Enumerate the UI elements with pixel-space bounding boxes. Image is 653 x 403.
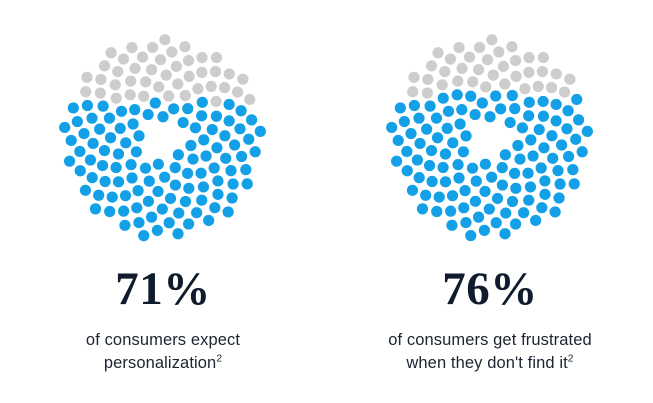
dot-filled — [440, 176, 451, 187]
dot-empty — [224, 68, 235, 79]
dot-filled — [438, 93, 449, 104]
dot-filled — [172, 228, 183, 239]
dot-filled — [87, 138, 98, 149]
dot-filled — [518, 207, 529, 218]
dot-empty — [546, 82, 557, 93]
dot-filled — [227, 178, 238, 189]
dot-filled — [567, 164, 578, 175]
dot-filled — [159, 172, 170, 183]
dot-empty — [147, 42, 158, 53]
infographic-root: 71% of consumers expect personalization2… — [0, 0, 653, 403]
dot-filled — [120, 190, 131, 201]
dot-filled — [168, 103, 179, 114]
dot-filled — [129, 104, 140, 115]
dot-empty — [456, 63, 467, 74]
dot-filled — [183, 218, 194, 229]
dot-filled — [479, 186, 490, 197]
dot-filled — [173, 149, 184, 160]
dot-empty — [511, 71, 522, 82]
dot-empty — [464, 51, 475, 62]
dot-filled — [510, 183, 521, 194]
dot-empty — [422, 87, 433, 98]
dot-empty — [140, 76, 151, 87]
dot-filled — [211, 111, 222, 122]
dot-empty — [80, 86, 91, 97]
dot-filled — [514, 154, 525, 165]
dot-filled — [523, 110, 534, 121]
dot-empty — [480, 81, 491, 92]
dot-filled — [479, 225, 490, 236]
dot-filled — [447, 137, 458, 148]
dot-filled — [234, 123, 245, 134]
dot-empty — [519, 83, 530, 94]
dot-filled — [420, 190, 431, 201]
dot-filled — [432, 132, 443, 143]
dot-filled — [538, 142, 549, 153]
dot-filled — [525, 134, 536, 145]
dot-empty — [537, 66, 548, 77]
dot-filled — [395, 102, 406, 113]
footnote-marker-left: 2 — [216, 354, 222, 365]
dot-filled — [183, 183, 194, 194]
dot-filled — [185, 140, 196, 151]
dot-filled — [460, 130, 471, 141]
dot-filled — [224, 115, 235, 126]
dot-empty — [171, 61, 182, 72]
dot-empty — [437, 79, 448, 90]
dot-filled — [59, 122, 70, 133]
stat-panel-left: 71% of consumers expect personalization2 — [0, 0, 326, 403]
dot-filled — [414, 138, 425, 149]
dot-filled — [242, 178, 253, 189]
dot-filled — [458, 146, 469, 157]
dot-empty — [183, 55, 194, 66]
dot-empty — [244, 94, 255, 105]
dot-filled — [554, 178, 565, 189]
percentage-value-right: 76% — [442, 266, 538, 313]
dot-empty — [206, 81, 217, 92]
dot-filled — [509, 168, 520, 179]
dot-empty — [499, 78, 510, 89]
dot-filled — [536, 162, 547, 173]
dot-filled — [431, 206, 442, 217]
dot-filled — [491, 217, 502, 228]
dot-filled — [178, 117, 189, 128]
dot-filled — [132, 185, 143, 196]
dot-empty — [81, 72, 92, 83]
dot-empty — [184, 71, 195, 82]
dot-filled — [209, 162, 220, 173]
dot-filled — [477, 97, 488, 108]
dot-filled — [120, 137, 131, 148]
dot-filled — [452, 159, 463, 170]
dot-filled — [113, 176, 124, 187]
dot-empty — [474, 42, 485, 53]
dot-filled — [453, 172, 464, 183]
dot-filled — [469, 109, 480, 120]
caption-left-line2: personalization — [104, 354, 217, 372]
dot-filled — [399, 116, 410, 127]
dot-filled — [152, 186, 163, 197]
dot-filled — [571, 94, 582, 105]
dot-filled — [490, 90, 501, 101]
dot-empty — [110, 79, 121, 90]
dot-filled — [517, 122, 528, 133]
dot-filled — [86, 113, 97, 124]
dot-filled — [113, 148, 124, 159]
dot-filled — [484, 111, 495, 122]
dot-empty — [179, 41, 190, 52]
dot-filled — [454, 118, 465, 129]
dot-filled — [173, 207, 184, 218]
dot-filled — [164, 217, 175, 228]
dot-empty — [180, 90, 191, 101]
dot-filled — [401, 146, 412, 157]
dot-filled — [497, 179, 508, 190]
dot-filled — [434, 191, 445, 202]
dot-filled — [539, 175, 550, 186]
dot-filled — [486, 172, 497, 183]
dot-filled — [534, 124, 545, 135]
dot-empty — [564, 74, 575, 85]
dot-filled — [190, 122, 201, 133]
dot-filled — [78, 128, 89, 139]
dot-filled — [445, 206, 456, 217]
dot-filled — [405, 128, 416, 139]
dot-empty — [432, 47, 443, 58]
dot-filled — [255, 126, 266, 137]
dot-filled — [536, 202, 547, 213]
dot-filled — [118, 206, 129, 217]
dot-filled — [153, 159, 164, 170]
dot-filled — [427, 176, 438, 187]
dot-filled — [104, 113, 115, 124]
dot-filled — [412, 154, 423, 165]
dot-empty — [407, 86, 418, 97]
dot-filled — [133, 130, 144, 141]
dot-filled — [198, 134, 209, 145]
dot-filled — [546, 130, 557, 141]
dot-filled — [424, 160, 435, 171]
dot-empty — [452, 75, 463, 86]
dot-filled — [99, 145, 110, 156]
dot-empty — [146, 64, 157, 75]
dot-filled — [530, 215, 541, 226]
dot-filled — [144, 176, 155, 187]
dot-empty — [196, 67, 207, 78]
dot-filled — [220, 153, 231, 164]
dot-empty — [538, 52, 549, 63]
dot-empty — [95, 87, 106, 98]
dot-filled — [64, 156, 75, 167]
dot-filled — [243, 134, 254, 145]
dot-filled — [223, 206, 234, 217]
dot-filled — [207, 124, 218, 135]
dot-empty — [426, 60, 437, 71]
dot-empty — [493, 46, 504, 57]
dot-filled — [446, 220, 457, 231]
dot-empty — [237, 74, 248, 85]
dot-empty — [219, 82, 230, 93]
dot-filled — [182, 168, 193, 179]
dot-empty — [211, 52, 222, 63]
dot-empty — [153, 81, 164, 92]
dot-filled — [507, 90, 518, 101]
dot-filled — [87, 172, 98, 183]
dot-chart-right-dots — [386, 34, 593, 241]
dot-filled — [393, 135, 404, 146]
dot-filled — [203, 215, 214, 226]
dot-empty — [506, 41, 517, 52]
dot-filled — [182, 103, 193, 114]
dot-filled — [212, 189, 223, 200]
dot-filled — [447, 190, 458, 201]
caption-right-line2: when they don't find it — [406, 354, 567, 372]
dot-filled — [240, 164, 251, 175]
dot-empty — [105, 47, 116, 58]
footnote-marker-right: 2 — [568, 354, 574, 365]
stat-panel-right: 76% of consumers get frustrated when the… — [327, 0, 653, 403]
dot-filled — [458, 202, 469, 213]
dot-filled — [66, 135, 77, 146]
dot-empty — [118, 53, 129, 64]
dot-chart-left-dots — [59, 34, 266, 241]
dot-filled — [421, 124, 432, 135]
dot-empty — [453, 42, 464, 53]
dot-filled — [524, 97, 535, 108]
dot-filled — [170, 179, 181, 190]
dot-empty — [445, 53, 456, 64]
dot-empty — [196, 52, 207, 63]
dot-filled — [460, 217, 471, 228]
dot-filled — [224, 99, 235, 110]
dot-empty — [510, 55, 521, 66]
dot-empty — [551, 68, 562, 79]
dot-filled — [225, 165, 236, 176]
dot-filled — [226, 192, 237, 203]
dot-empty — [161, 70, 172, 81]
dot-filled — [90, 203, 101, 214]
dot-empty — [125, 75, 136, 86]
dot-filled — [425, 101, 436, 112]
dot-filled — [505, 117, 516, 128]
dot-filled — [115, 123, 126, 134]
dot-filled — [512, 140, 523, 151]
dot-chart-right-svg — [385, 32, 595, 244]
dot-filled — [552, 165, 563, 176]
dot-filled — [100, 176, 111, 187]
dot-filled — [191, 207, 202, 218]
dot-filled — [143, 196, 154, 207]
dot-empty — [112, 66, 123, 77]
dot-empty — [166, 46, 177, 57]
dot-filled — [180, 196, 191, 207]
dot-filled — [525, 181, 536, 192]
dot-filled — [456, 104, 467, 115]
dot-filled — [500, 207, 511, 218]
dot-filled — [133, 217, 144, 228]
dot-filled — [438, 162, 449, 173]
dot-filled — [538, 96, 549, 107]
dot-chart-left-svg — [58, 32, 268, 244]
caption-right: of consumers get frustrated when they do… — [388, 329, 592, 376]
dot-filled — [495, 103, 506, 114]
dot-filled — [170, 162, 181, 173]
dot-filled — [198, 181, 209, 192]
dot-filled — [187, 154, 198, 165]
dot-filled — [473, 212, 484, 223]
dot-filled — [200, 150, 211, 161]
dot-filled — [196, 110, 207, 121]
dot-filled — [68, 102, 79, 113]
dot-filled — [553, 192, 564, 203]
caption-right-line1: of consumers get frustrated — [388, 331, 592, 349]
dot-filled — [480, 159, 491, 170]
dot-filled — [157, 203, 168, 214]
dot-filled — [126, 172, 137, 183]
dot-filled — [98, 101, 109, 112]
dot-empty — [163, 90, 174, 101]
dot-empty — [172, 78, 183, 89]
dot-filled — [104, 206, 115, 217]
dot-filled — [550, 206, 561, 217]
dot-filled — [562, 105, 573, 116]
dot-filled — [569, 178, 580, 189]
caption-left-line1: of consumers expect — [86, 331, 240, 349]
dot-filled — [74, 146, 85, 157]
caption-left: of consumers expect personalization2 — [86, 329, 240, 376]
dot-empty — [408, 72, 419, 83]
dot-filled — [509, 103, 520, 114]
dot-filled — [443, 106, 454, 117]
dot-filled — [484, 203, 495, 214]
dot-empty — [482, 54, 493, 65]
dot-filled — [80, 185, 91, 196]
dot-filled — [105, 132, 116, 143]
dot-filled — [407, 185, 418, 196]
dot-filled — [442, 123, 453, 134]
dot-filled — [409, 100, 420, 111]
dot-filled — [465, 230, 476, 241]
dot-filled — [119, 220, 130, 231]
percentage-value-left: 71% — [115, 266, 211, 313]
dot-filled — [431, 113, 442, 124]
dot-filled — [402, 165, 413, 176]
dot-filled — [492, 193, 503, 204]
dot-filled — [146, 212, 157, 223]
dot-filled — [465, 91, 476, 102]
dot-filled — [391, 156, 402, 167]
dot-filled — [195, 168, 206, 179]
dot-filled — [570, 134, 581, 145]
dot-empty — [422, 74, 433, 85]
dot-filled — [219, 130, 230, 141]
dot-filled — [417, 203, 428, 214]
dot-empty — [137, 51, 148, 62]
dot-filled — [538, 111, 549, 122]
dot-filled — [116, 106, 127, 117]
dot-filled — [426, 145, 437, 156]
dot-filled — [440, 148, 451, 159]
dot-filled — [582, 126, 593, 137]
dot-filled — [75, 165, 86, 176]
dot-filled — [157, 111, 168, 122]
dot-filled — [563, 151, 574, 162]
dot-filled — [93, 190, 104, 201]
dot-filled — [523, 195, 534, 206]
dot-filled — [499, 228, 510, 239]
dot-filled — [573, 114, 584, 125]
dot-empty — [523, 67, 534, 78]
dot-filled — [250, 146, 261, 157]
dot-filled — [72, 116, 83, 127]
dot-filled — [82, 100, 93, 111]
dot-filled — [386, 122, 397, 133]
dot-empty — [138, 91, 149, 102]
dot-filled — [197, 97, 208, 108]
dot-filled — [527, 150, 538, 161]
dot-filled — [539, 189, 550, 200]
dot-filled — [471, 176, 482, 187]
dot-filled — [212, 175, 223, 186]
dot-empty — [126, 42, 137, 53]
dot-filled — [510, 218, 521, 229]
dot-filled — [211, 142, 222, 153]
dot-filled — [131, 202, 142, 213]
dot-empty — [473, 64, 484, 75]
dot-empty — [211, 96, 222, 107]
dot-filled — [127, 118, 138, 129]
dot-filled — [111, 162, 122, 173]
dot-empty — [155, 54, 166, 65]
dot-filled — [459, 185, 470, 196]
dot-chart-left — [58, 32, 268, 244]
dot-empty — [559, 86, 570, 97]
dot-empty — [439, 66, 450, 77]
dot-filled — [497, 162, 508, 173]
dot-filled — [229, 139, 240, 150]
dot-empty — [159, 34, 170, 45]
dot-filled — [142, 109, 153, 120]
dot-empty — [210, 66, 221, 77]
dot-filled — [470, 196, 481, 207]
dot-empty — [111, 93, 122, 104]
dot-filled — [235, 105, 246, 116]
dot-filled — [556, 139, 567, 150]
dot-filled — [522, 168, 533, 179]
dot-filled — [500, 149, 511, 160]
dot-filled — [414, 172, 425, 183]
dot-empty — [232, 86, 243, 97]
dot-filled — [551, 115, 562, 126]
dot-filled — [107, 191, 118, 202]
dot-filled — [152, 225, 163, 236]
dot-empty — [95, 74, 106, 85]
dot-empty — [99, 60, 110, 71]
dot-filled — [131, 146, 142, 157]
dot-empty — [498, 61, 509, 72]
dot-filled — [85, 154, 96, 165]
dot-filled — [140, 163, 151, 174]
dot-filled — [547, 153, 558, 164]
dot-empty — [192, 83, 203, 94]
dot-chart-right — [385, 32, 595, 244]
dot-filled — [507, 196, 518, 207]
dot-filled — [196, 195, 207, 206]
dot-filled — [209, 202, 220, 213]
dot-empty — [488, 70, 499, 81]
dot-filled — [165, 193, 176, 204]
